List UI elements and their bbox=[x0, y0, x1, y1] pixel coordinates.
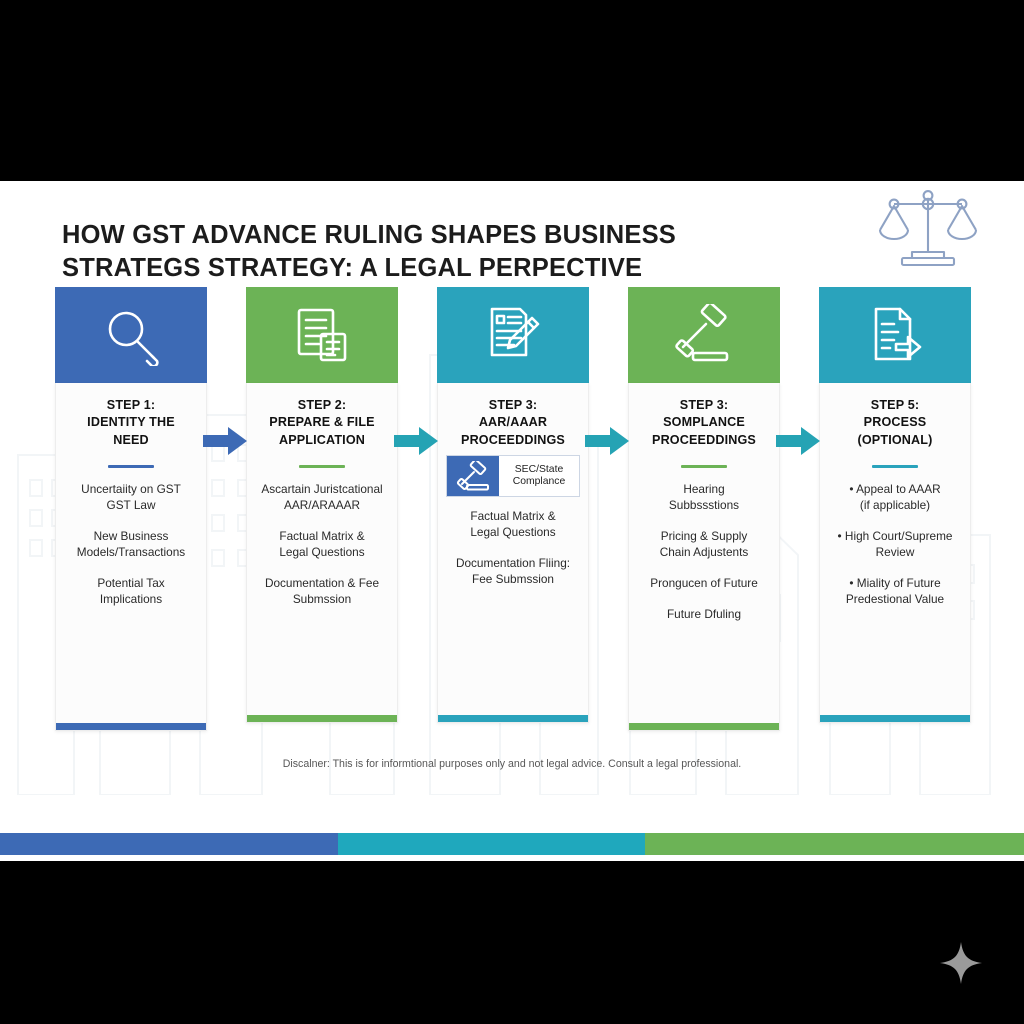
step-card-2: STEP 2:PREPARE & FILEAPPLICATIONAscartai… bbox=[246, 383, 398, 723]
document-arrow-icon bbox=[864, 304, 926, 366]
gavel-icon bbox=[673, 304, 735, 366]
step-card-3: STEP 3:AAR/AAARPROCEEDDINGSSEC/StateComp… bbox=[437, 383, 589, 723]
card-accent-bar-2 bbox=[247, 715, 397, 722]
card-accent-bar-1 bbox=[56, 723, 206, 730]
bottom-color-bar bbox=[0, 833, 1024, 855]
step-items-4: HearingSubbssstionsPricing & SupplyChain… bbox=[635, 482, 773, 623]
step-title-1: STEP 1:IDENTITY THENEED bbox=[62, 397, 200, 449]
list-item: Future Dfuling bbox=[637, 607, 771, 623]
list-item: Potential TaxImplications bbox=[64, 576, 198, 608]
flow-arrow-1 bbox=[203, 426, 247, 456]
bar-segment-2 bbox=[338, 833, 645, 855]
list-item: Ascartain JuristcationalAAR/ARAAAR bbox=[255, 482, 389, 514]
list-item: New BusinessModels/Transactions bbox=[64, 529, 198, 561]
step-items-3: Factual Matrix &Legal QuestionsDocumenta… bbox=[444, 509, 582, 588]
list-item: • Miality of FuturePredestional Value bbox=[828, 576, 962, 608]
gavel-icon bbox=[447, 456, 499, 496]
step-column-1[interactable]: STEP 1:IDENTITY THENEEDUncertaiity on GS… bbox=[55, 287, 207, 383]
step-title-3: STEP 3:AAR/AAARPROCEEDDINGS bbox=[444, 397, 582, 449]
card-accent-bar-4 bbox=[629, 723, 779, 730]
list-item: HearingSubbssstions bbox=[637, 482, 771, 514]
title-line-2: STRATEGS STRATEGY: A LEGAL PERPECTIVE bbox=[62, 252, 702, 285]
scales-of-justice-icon bbox=[876, 188, 980, 270]
slide-frame: HOW GST ADVANCE RULING SHAPES BUSINESS S… bbox=[0, 0, 1024, 1024]
list-item: Documentation & FeeSubmssion bbox=[255, 576, 389, 608]
list-item: Factual Matrix &Legal Questions bbox=[446, 509, 580, 541]
documents-icon bbox=[291, 304, 353, 366]
disclaimer-text: Discalner: This is for informtional purp… bbox=[0, 758, 1024, 770]
step-card-1: STEP 1:IDENTITY THENEEDUncertaiity on GS… bbox=[55, 383, 207, 731]
list-item: Uncertaiity on GSTGST Law bbox=[64, 482, 198, 514]
compliance-badge-label: SEC/StateComplance bbox=[499, 456, 579, 496]
step-column-5[interactable]: STEP 5:PROCESS(OPTIONAL)• Appeal to AAAR… bbox=[819, 287, 971, 383]
step-title-5: STEP 5:PROCESS(OPTIONAL) bbox=[826, 397, 964, 449]
list-item: Documentation Fliing:Fee Submssion bbox=[446, 556, 580, 588]
flow-arrow-4 bbox=[776, 426, 820, 456]
infographic-slide: HOW GST ADVANCE RULING SHAPES BUSINESS S… bbox=[0, 181, 1024, 861]
list-item: • Appeal to AAAR(if applicable) bbox=[828, 482, 962, 514]
step-header-5 bbox=[819, 287, 971, 383]
card-accent-bar-5 bbox=[820, 715, 970, 722]
divider-rule-5 bbox=[872, 465, 918, 468]
magnifier-icon bbox=[100, 304, 162, 366]
list-item: Pricing & SupplyChain Adjustents bbox=[637, 529, 771, 561]
step-card-4: STEP 3:SOMPLANCEPROCEEDDINGSHearingSubbs… bbox=[628, 383, 780, 731]
steps-row: STEP 1:IDENTITY THENEEDUncertaiity on GS… bbox=[55, 287, 971, 861]
step-items-1: Uncertaiity on GSTGST LawNew BusinessMod… bbox=[62, 482, 200, 608]
step-items-2: Ascartain JuristcationalAAR/ARAAARFactua… bbox=[253, 482, 391, 608]
divider-rule-1 bbox=[108, 465, 154, 468]
bar-segment-3 bbox=[645, 833, 1024, 855]
divider-rule-4 bbox=[681, 465, 727, 468]
step-title-4: STEP 3:SOMPLANCEPROCEEDDINGS bbox=[635, 397, 773, 449]
list-item: Prongucen of Future bbox=[637, 576, 771, 592]
step-column-2[interactable]: STEP 2:PREPARE & FILEAPPLICATIONAscartai… bbox=[246, 287, 398, 383]
step-header-1 bbox=[55, 287, 207, 383]
step-column-3[interactable]: STEP 3:AAR/AAARPROCEEDDINGSSEC/StateComp… bbox=[437, 287, 589, 383]
step-column-4[interactable]: STEP 3:SOMPLANCEPROCEEDDINGSHearingSubbs… bbox=[628, 287, 780, 383]
step-header-3 bbox=[437, 287, 589, 383]
list-item: Factual Matrix &Legal Questions bbox=[255, 529, 389, 561]
bar-segment-1 bbox=[0, 833, 338, 855]
flow-arrow-3 bbox=[585, 426, 629, 456]
title-line-1: HOW GST ADVANCE RULING SHAPES BUSINESS bbox=[62, 221, 676, 249]
document-pen-icon bbox=[482, 304, 544, 366]
sparkle-icon bbox=[938, 940, 984, 986]
step-header-2 bbox=[246, 287, 398, 383]
flow-arrow-2 bbox=[394, 426, 438, 456]
step-items-5: • Appeal to AAAR(if applicable)• High Co… bbox=[826, 482, 964, 608]
step-header-4 bbox=[628, 287, 780, 383]
divider-rule-2 bbox=[299, 465, 345, 468]
page-title: HOW GST ADVANCE RULING SHAPES BUSINESS S… bbox=[62, 219, 702, 285]
compliance-badge[interactable]: SEC/StateComplance bbox=[446, 455, 580, 497]
step-title-2: STEP 2:PREPARE & FILEAPPLICATION bbox=[253, 397, 391, 449]
list-item: • High Court/SupremeReview bbox=[828, 529, 962, 561]
step-card-5: STEP 5:PROCESS(OPTIONAL)• Appeal to AAAR… bbox=[819, 383, 971, 723]
card-accent-bar-3 bbox=[438, 715, 588, 722]
